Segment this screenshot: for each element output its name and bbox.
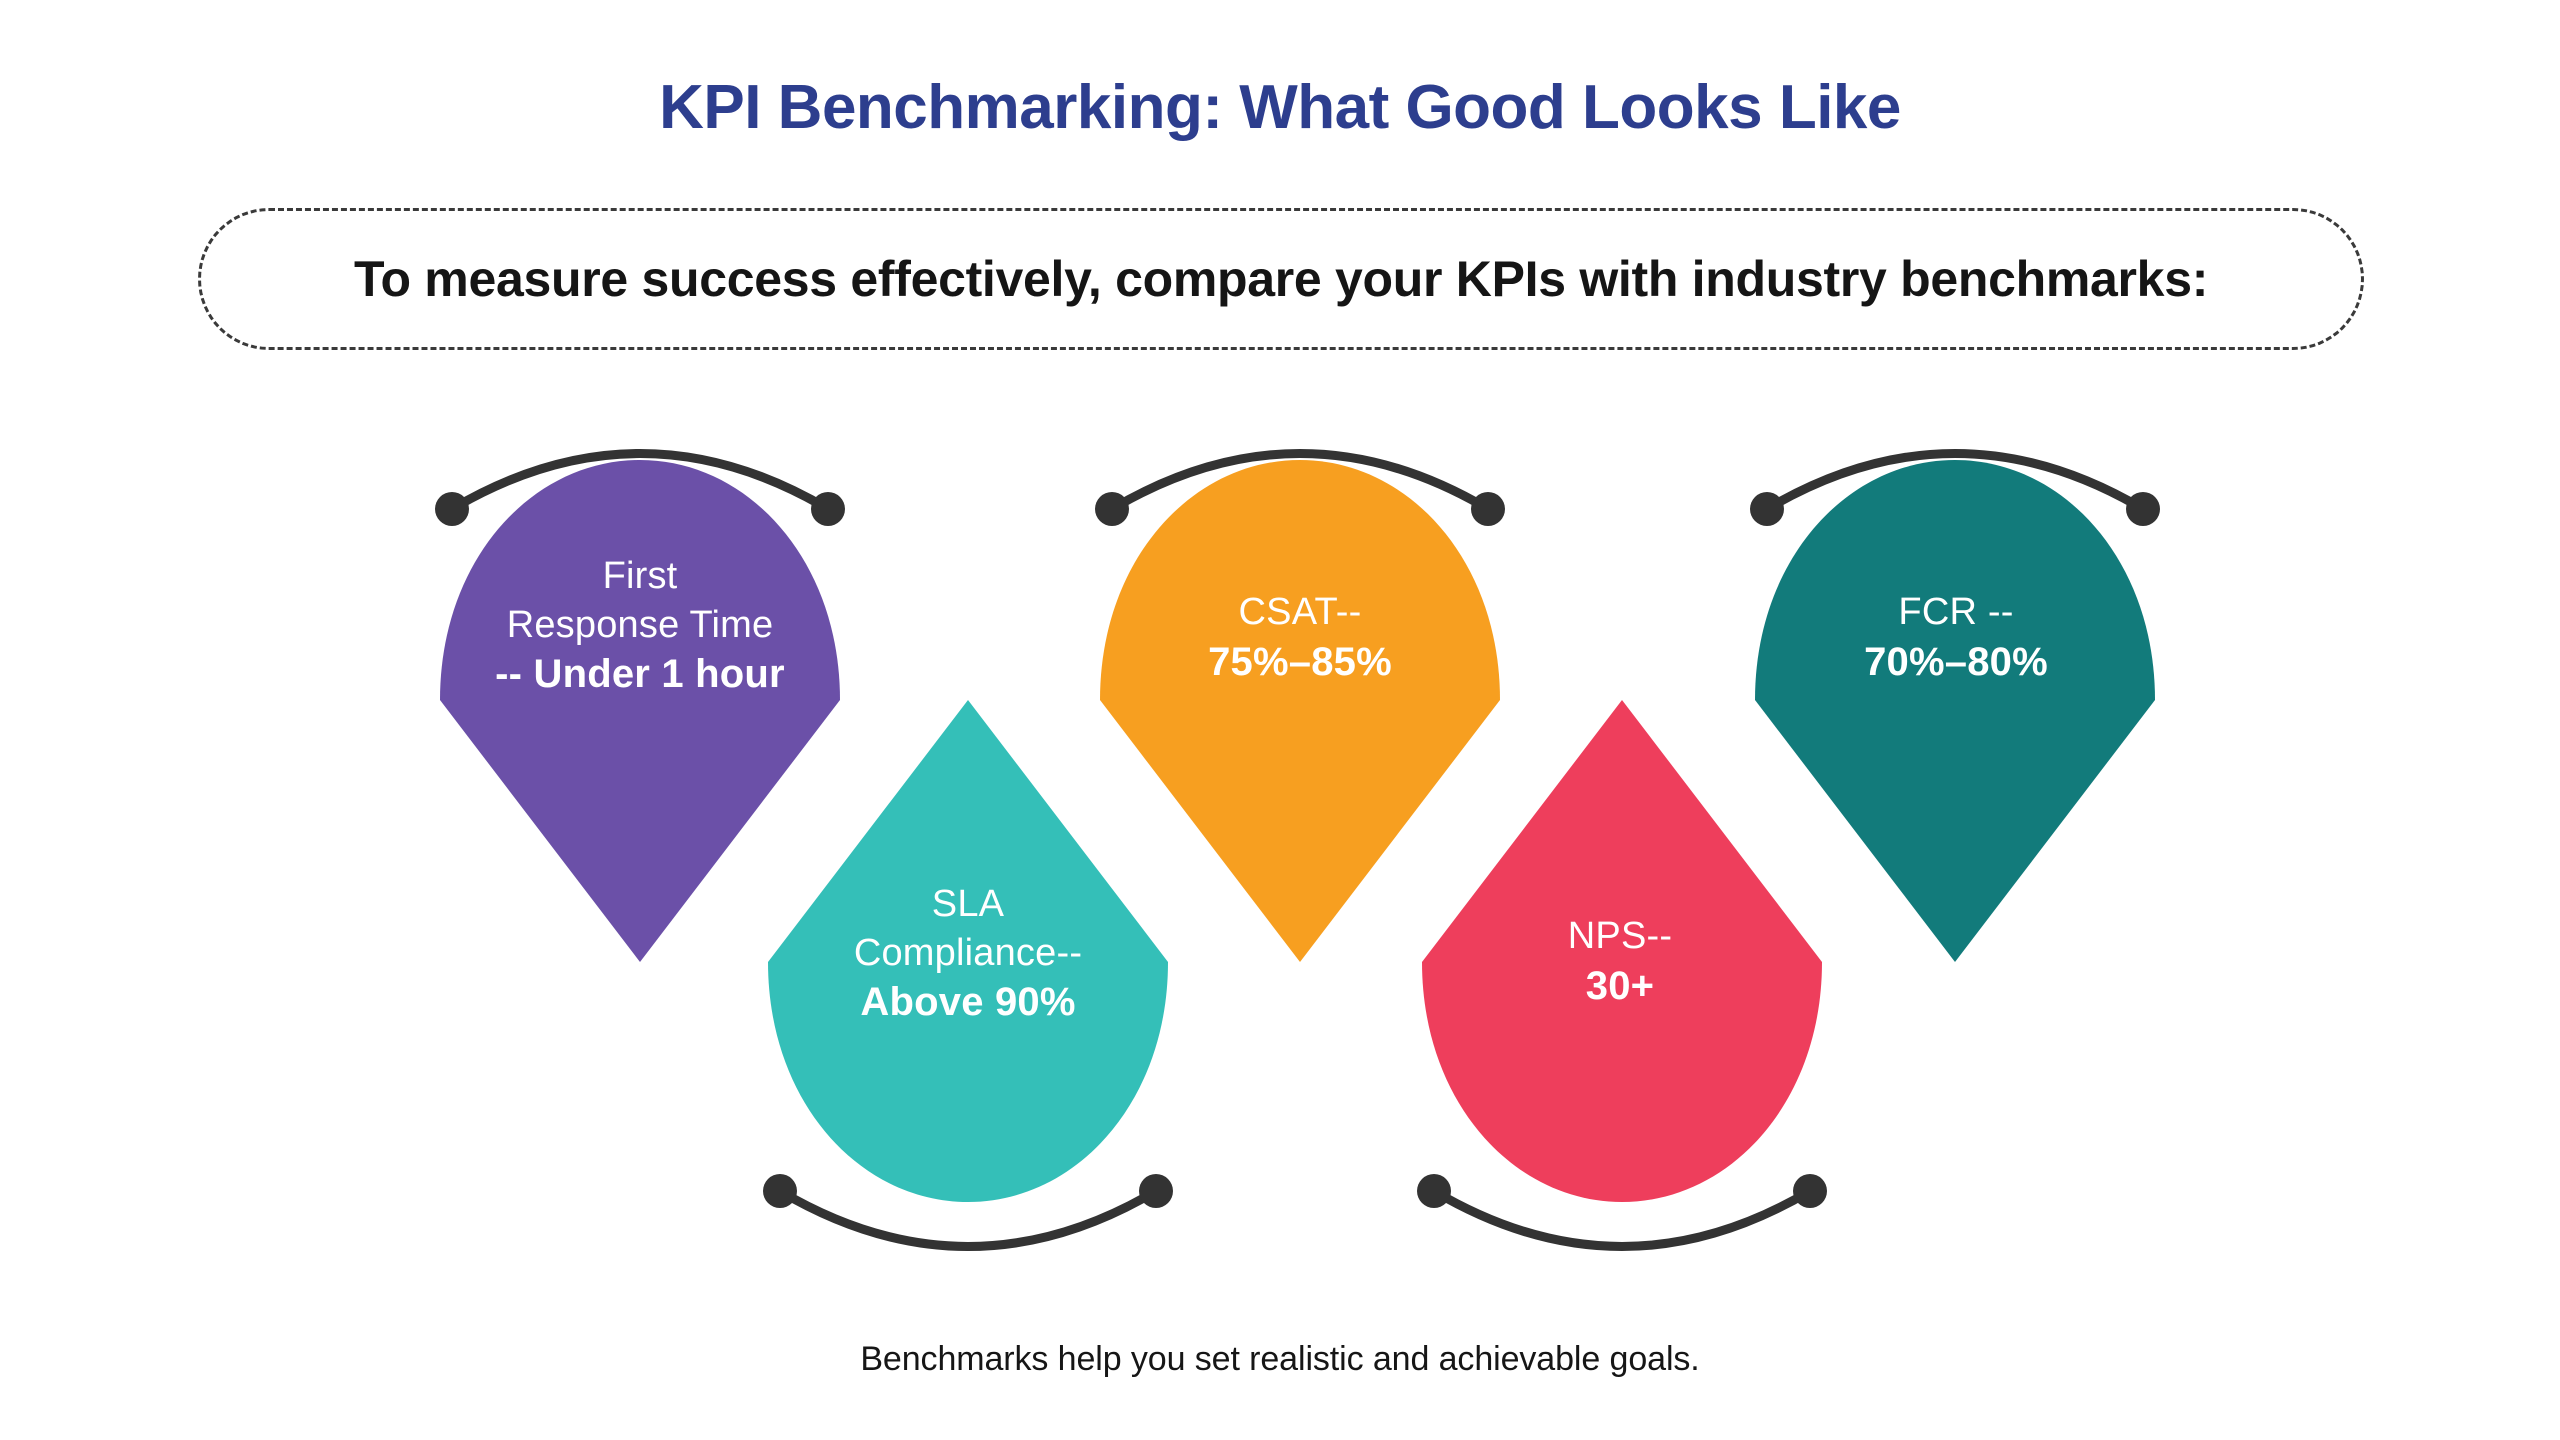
connector-dot-fcr-right	[2126, 492, 2160, 526]
connector-dot-sla-left	[763, 1174, 797, 1208]
connector-dot-sla-right	[1139, 1174, 1173, 1208]
infographic-canvas: KPI Benchmarking: What Good Looks Like T…	[0, 0, 2560, 1440]
shape-sla[interactable]	[768, 700, 1168, 1202]
diagram-svg	[0, 0, 2560, 1440]
diamond-chain-diagram	[0, 0, 2560, 1440]
connector-dot-nps-left	[1417, 1174, 1451, 1208]
shape-fcr[interactable]	[1755, 460, 2155, 962]
connector-dot-fcr-left	[1750, 492, 1784, 526]
connector-dot-csat-left	[1095, 492, 1129, 526]
connector-dot-csat-right	[1471, 492, 1505, 526]
connector-dot-frt-right	[811, 492, 845, 526]
shape-frt[interactable]	[440, 460, 840, 962]
shape-csat[interactable]	[1100, 460, 1500, 962]
connector-dot-nps-right	[1793, 1174, 1827, 1208]
connector-dot-frt-left	[435, 492, 469, 526]
footer-caption: Benchmarks help you set realistic and ac…	[0, 1340, 2560, 1379]
shape-nps[interactable]	[1422, 700, 1822, 1202]
